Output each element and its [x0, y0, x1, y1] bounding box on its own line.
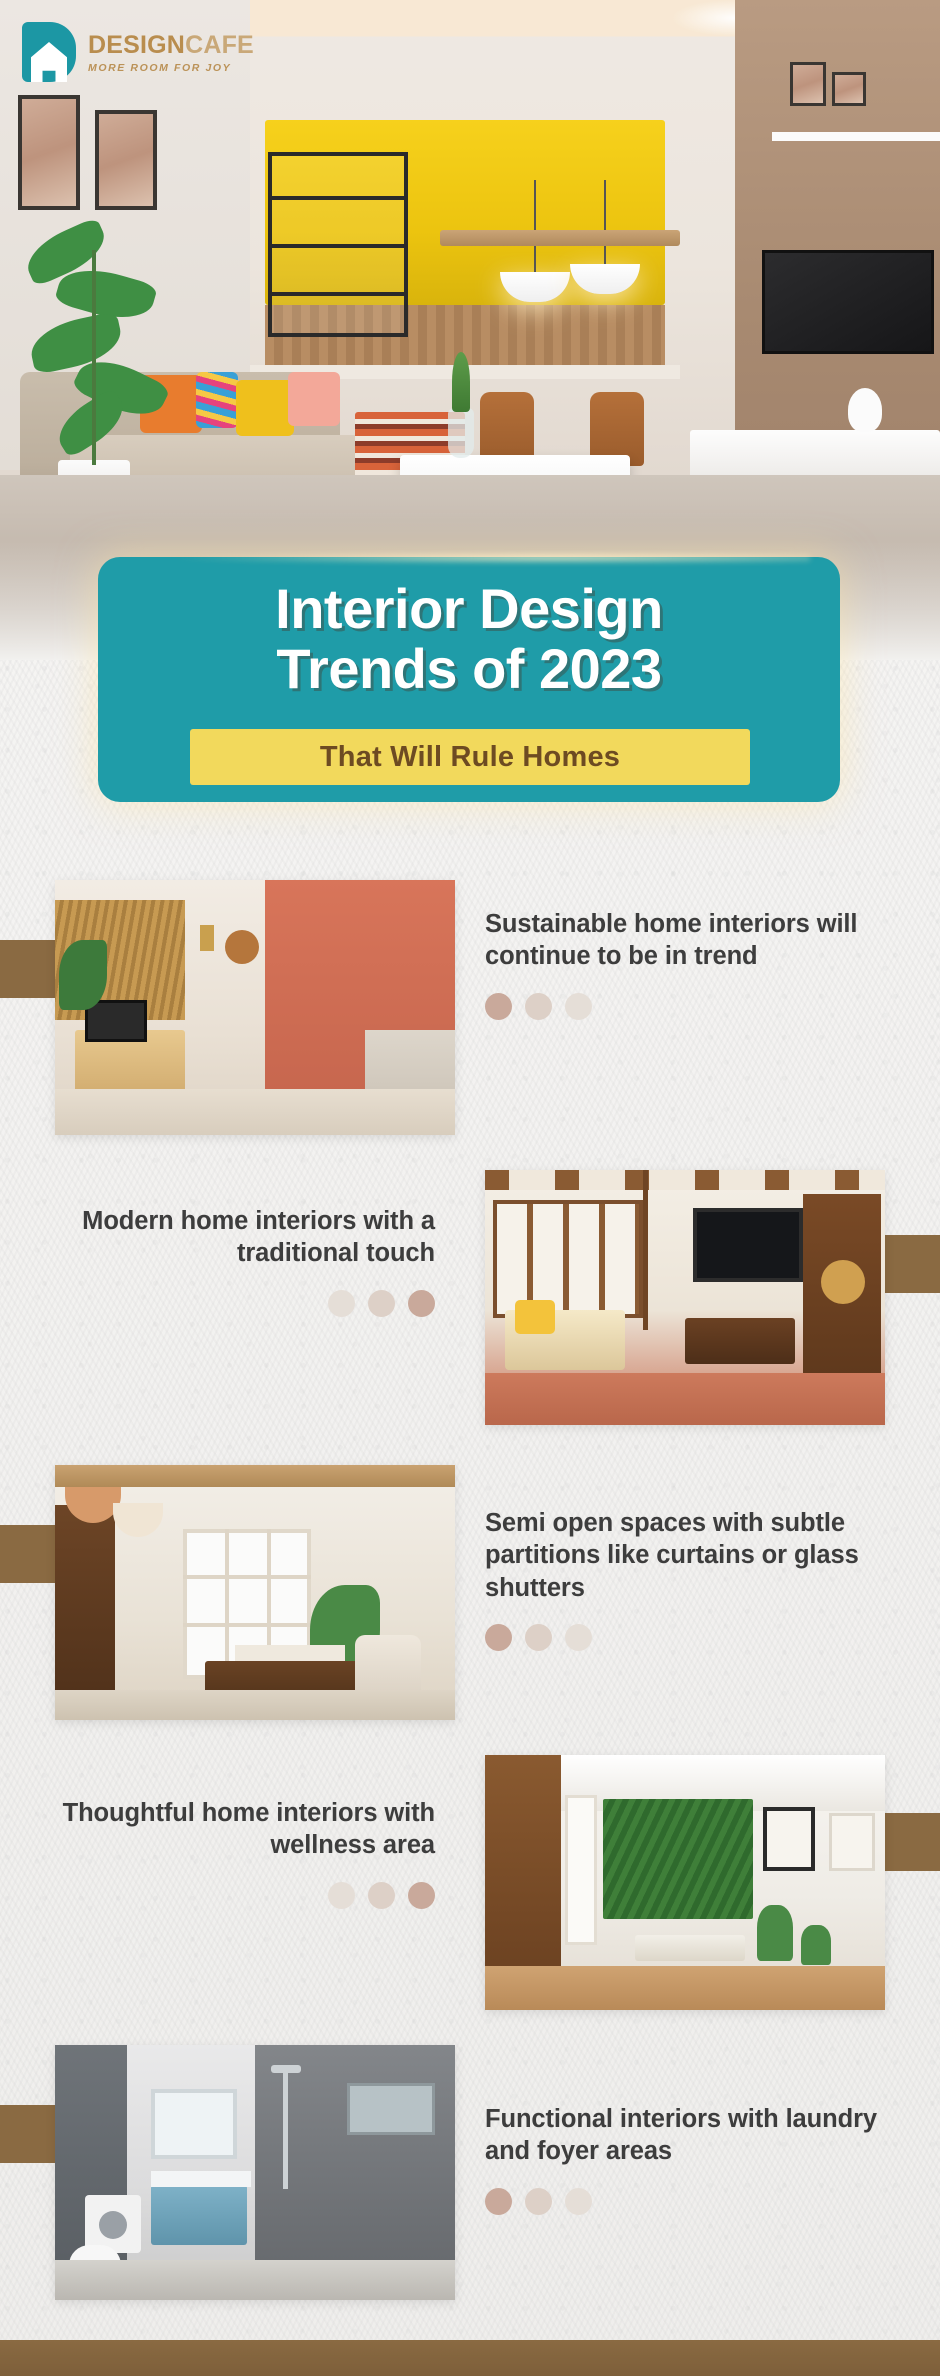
trend-text-5: Functional interiors with laundry and fo… [485, 2103, 885, 2215]
dot [408, 1882, 435, 1909]
trend-image-1 [55, 880, 455, 1135]
wall-art-frame [18, 95, 80, 210]
trend-label-1: Sustainable home interiors will continue… [485, 908, 885, 973]
dining-table [440, 230, 680, 246]
house-icon [31, 42, 67, 82]
wall-art-frame [95, 110, 157, 210]
dot [485, 993, 512, 1020]
trend-image-2 [485, 1170, 885, 1425]
trend-row-4: Thoughtful home interiors with wellness … [0, 1755, 940, 2015]
dot [485, 2188, 512, 2215]
trend-dots-3 [485, 1624, 885, 1651]
decor-figurine [848, 388, 882, 432]
trend-image-5 [55, 2045, 455, 2300]
dot [328, 1290, 355, 1317]
throw-pillow [288, 372, 340, 426]
brand-tagline: MORE ROOM FOR JOY [88, 63, 254, 74]
designcafe-logo-icon [22, 22, 76, 82]
wall-tv [762, 250, 934, 354]
wall-art-frame [790, 62, 826, 106]
dot [525, 2188, 552, 2215]
subtitle-ribbon: That Will Rule Homes [190, 729, 750, 785]
dot [565, 1624, 592, 1651]
trend-dots-2 [35, 1290, 435, 1317]
trend-dots-5 [485, 2188, 885, 2215]
trend-row-5: Functional interiors with laundry and fo… [0, 2045, 940, 2305]
dot [328, 1882, 355, 1909]
dot [368, 1290, 395, 1317]
subtitle-text: That Will Rule Homes [320, 741, 620, 774]
trend-text-1: Sustainable home interiors will continue… [485, 908, 885, 1020]
trend-dots-4 [35, 1882, 435, 1909]
dot [525, 993, 552, 1020]
trend-text-3: Semi open spaces with subtle partitions … [485, 1507, 885, 1651]
trend-label-5: Functional interiors with laundry and fo… [485, 2103, 885, 2168]
dot [485, 1624, 512, 1651]
trend-image-3 [55, 1465, 455, 1720]
vase-greenery [452, 352, 470, 412]
wall-art-frame [832, 72, 866, 106]
trend-label-4: Thoughtful home interiors with wellness … [35, 1797, 435, 1862]
trend-text-4: Thoughtful home interiors with wellness … [35, 1797, 435, 1909]
throw-pillow [236, 380, 294, 436]
throw-pillow [196, 372, 238, 428]
dot [408, 1290, 435, 1317]
infographic-page: DESIGNCAFE MORE ROOM FOR JOY Interior De… [0, 0, 940, 2376]
pendant-cord [604, 180, 606, 264]
trend-row-2: Modern home interiors with a traditional… [0, 1170, 940, 1430]
dot [525, 1624, 552, 1651]
open-shelving-unit [268, 152, 408, 337]
dot [368, 1882, 395, 1909]
dot [565, 993, 592, 1020]
brand-name-secondary: CAFE [185, 31, 254, 59]
footer-bar [0, 2340, 940, 2376]
title-line-1: Interior Design [98, 579, 840, 639]
trend-dots-1 [485, 993, 885, 1020]
trend-label-3: Semi open spaces with subtle partitions … [485, 1507, 885, 1604]
logo-wordmark: DESIGNCAFE MORE ROOM FOR JOY [88, 31, 254, 74]
title-banner: Interior Design Trends of 2023 That Will… [98, 557, 840, 802]
pendant-cord [534, 180, 536, 272]
trend-text-2: Modern home interiors with a traditional… [35, 1205, 435, 1317]
wall-shelf [772, 132, 940, 141]
title-heading: Interior Design Trends of 2023 [98, 557, 840, 699]
trend-row-1: Sustainable home interiors will continue… [0, 880, 940, 1140]
title-line-2: Trends of 2023 [98, 639, 840, 699]
trend-label-2: Modern home interiors with a traditional… [35, 1205, 435, 1270]
brand-name-primary: DESIGN [88, 31, 185, 59]
trend-image-4 [485, 1755, 885, 2010]
glass-vase [448, 408, 474, 458]
plant-stem [92, 250, 96, 465]
brand-logo[interactable]: DESIGNCAFE MORE ROOM FOR JOY [22, 22, 254, 82]
trend-row-3: Semi open spaces with subtle partitions … [0, 1465, 940, 1725]
dot [565, 2188, 592, 2215]
